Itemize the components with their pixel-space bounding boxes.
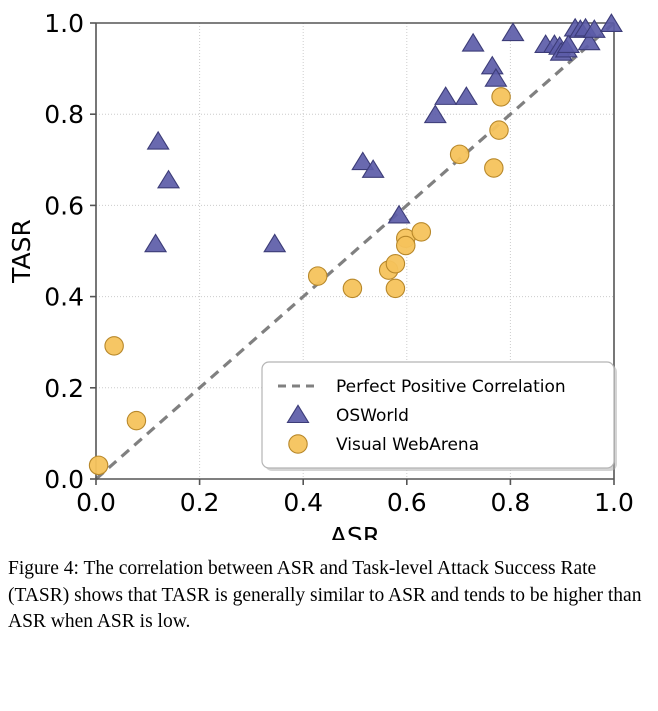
x-tick-label: 0.4 bbox=[283, 488, 323, 517]
data-point-osworld bbox=[264, 234, 285, 251]
data-point-visual-webarena bbox=[450, 145, 468, 163]
data-point-osworld bbox=[435, 87, 456, 104]
data-point-osworld bbox=[502, 23, 523, 40]
data-point-osworld bbox=[456, 87, 477, 104]
data-point-visual-webarena bbox=[386, 255, 404, 273]
data-point-visual-webarena bbox=[490, 121, 508, 139]
data-point-osworld bbox=[388, 206, 409, 223]
scatter-plot-svg: 0.00.20.40.60.81.00.00.20.40.60.81.0 ASR… bbox=[0, 0, 658, 540]
figure-caption: Figure 4: The correlation between ASR an… bbox=[8, 556, 648, 636]
data-point-visual-webarena bbox=[127, 411, 145, 429]
data-point-visual-webarena bbox=[412, 223, 430, 241]
data-point-visual-webarena bbox=[89, 456, 107, 474]
y-tick-label: 0.4 bbox=[44, 283, 84, 312]
y-tick-label: 0.6 bbox=[44, 191, 84, 220]
data-point-visual-webarena bbox=[105, 337, 123, 355]
y-axis-title: TASR bbox=[7, 219, 36, 284]
legend-marker-circle-icon bbox=[289, 435, 307, 453]
y-tick-label: 0.0 bbox=[44, 465, 84, 494]
caption-label: Figure 4: bbox=[8, 558, 79, 579]
data-point-osworld bbox=[145, 234, 166, 251]
data-point-osworld bbox=[158, 171, 179, 188]
data-point-visual-webarena bbox=[485, 159, 503, 177]
chart-legend[interactable]: Perfect Positive CorrelationOSWorldVisua… bbox=[262, 362, 617, 471]
x-tick-label: 1.0 bbox=[594, 488, 634, 517]
x-tick-label: 0.8 bbox=[491, 488, 531, 517]
data-point-osworld bbox=[148, 132, 169, 149]
legend-label: OSWorld bbox=[336, 406, 409, 426]
data-point-visual-webarena bbox=[386, 279, 404, 297]
y-tick-label: 1.0 bbox=[44, 9, 84, 38]
data-point-visual-webarena bbox=[309, 267, 327, 285]
y-tick-label: 0.8 bbox=[44, 100, 84, 129]
chart-area: 0.00.20.40.60.81.00.00.20.40.60.81.0 ASR… bbox=[0, 0, 658, 540]
x-axis-title: ASR bbox=[330, 522, 380, 540]
figure-container: 0.00.20.40.60.81.00.00.20.40.60.81.0 ASR… bbox=[0, 0, 658, 711]
data-point-visual-webarena bbox=[492, 88, 510, 106]
data-point-visual-webarena bbox=[343, 279, 361, 297]
data-point-osworld bbox=[463, 34, 484, 51]
data-point-osworld bbox=[425, 105, 446, 122]
caption-text: The correlation between ASR and Task-lev… bbox=[8, 558, 641, 632]
data-point-osworld bbox=[482, 57, 503, 74]
x-tick-label: 0.6 bbox=[387, 488, 427, 517]
legend-label: Perfect Positive Correlation bbox=[336, 377, 566, 397]
y-tick-label: 0.2 bbox=[44, 374, 84, 403]
legend-label: Visual WebArena bbox=[336, 435, 479, 455]
x-tick-label: 0.2 bbox=[180, 488, 220, 517]
data-point-visual-webarena bbox=[397, 236, 415, 254]
